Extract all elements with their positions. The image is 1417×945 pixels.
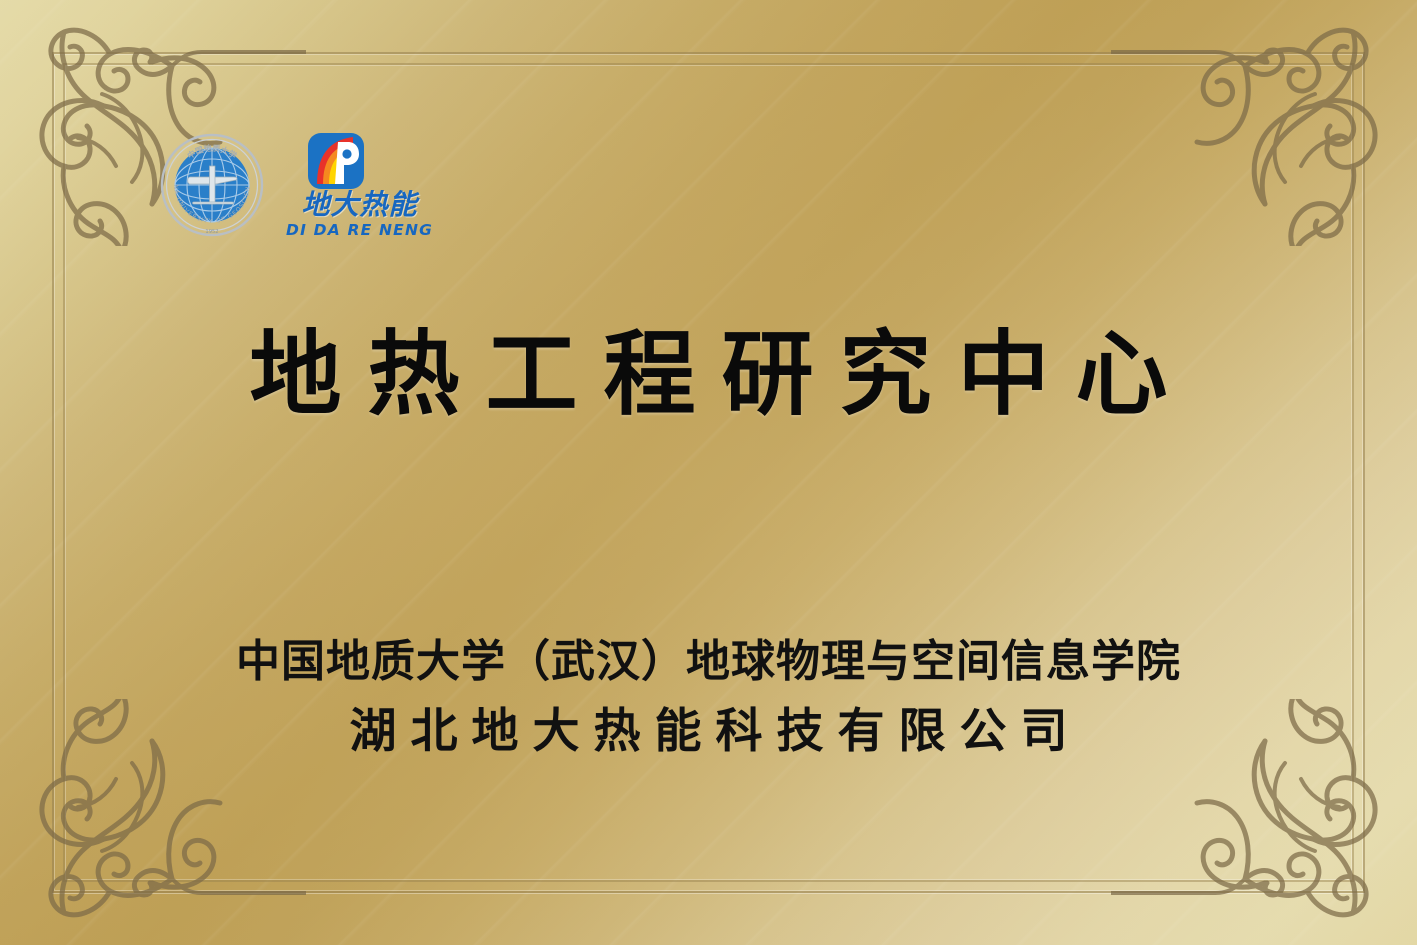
brand-text-row: 地大热能 <box>302 191 418 219</box>
page-title: 地热工程研究中心 <box>0 327 1417 424</box>
company-brand-logo: 地大热能 DI DA RE NENG <box>286 132 433 239</box>
logo-group: 1952 中国地质大学 CHINA UNIVERSITY OF GEOSCIEN… <box>160 132 433 239</box>
subtitle-institution: 中国地质大学（武汉）地球物理与空间信息学院 <box>0 638 1417 686</box>
didareneng-mark-icon <box>307 132 365 190</box>
brand-name-cn: 地大热能 <box>302 191 418 219</box>
brand-name-pinyin: DI DA RE NENG <box>286 223 433 239</box>
plaque-signboard: 1952 中国地质大学 CHINA UNIVERSITY OF GEOSCIEN… <box>0 0 1417 945</box>
university-seal-logo: 1952 中国地质大学 CHINA UNIVERSITY OF GEOSCIEN… <box>160 133 264 237</box>
seal-year: 1952 <box>205 229 218 235</box>
corner-ornament-top-right <box>1111 6 1411 246</box>
subtitle-company: 湖北地大热能科技有限公司 <box>0 705 1417 759</box>
